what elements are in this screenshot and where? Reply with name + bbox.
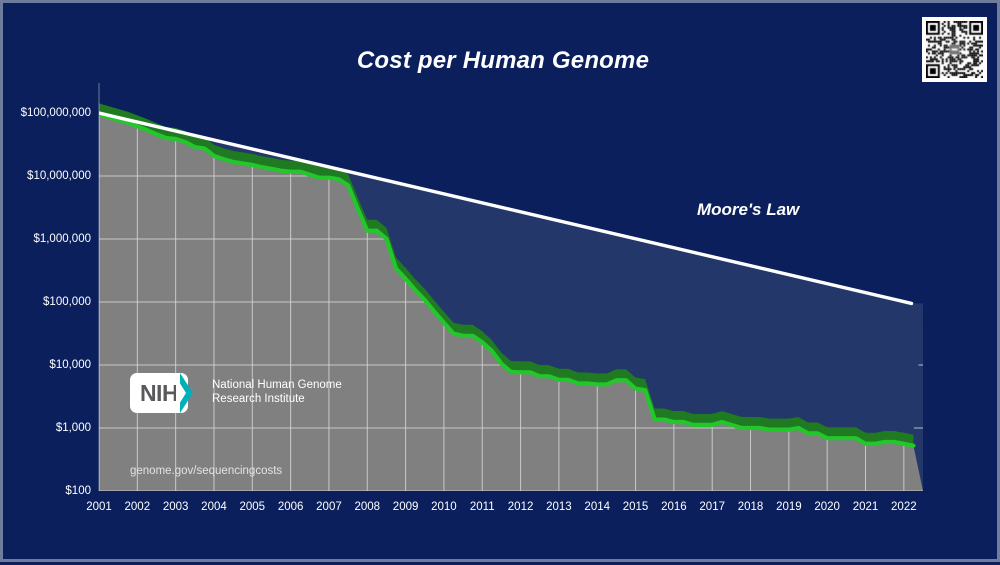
nih-logo-line2: Research Institute (212, 393, 342, 407)
chevron-notch-icon (176, 377, 186, 409)
x-axis-tick-label: 2002 (125, 501, 151, 513)
x-axis-tick-label: 2016 (661, 501, 687, 513)
y-axis-tick-label: $10,000 (49, 359, 91, 371)
x-axis-tick-label: 2011 (470, 501, 495, 513)
x-axis-tick-label: 2001 (86, 501, 112, 513)
y-axis-tick-label: $100 (65, 485, 91, 497)
y-axis-tick-label: $100,000 (43, 296, 91, 308)
source-url-label: genome.gov/sequencingcosts (130, 465, 282, 477)
y-axis-tick-label: $100,000,000 (21, 107, 91, 119)
qr-code[interactable] (922, 17, 987, 82)
x-axis-tick-label: 2006 (278, 501, 304, 513)
nih-logo-mark: NIH (130, 373, 188, 413)
x-axis-tick-label: 2009 (393, 501, 419, 513)
x-axis-tick-label: 2003 (163, 501, 189, 513)
x-axis-tick-label: 2020 (814, 501, 840, 513)
y-axis-tick-label: $1,000,000 (33, 233, 91, 245)
cost-per-genome-chart: $100,000,000$10,000,000$1,000,000$100,00… (3, 3, 1000, 565)
x-axis-tick-label: 2010 (431, 501, 457, 513)
nih-logo: NIH National Human Genome Research Insti… (130, 373, 342, 413)
page-title: Cost per Human Genome (3, 47, 1000, 75)
x-axis-tick-label: 2007 (316, 501, 342, 513)
chart-frame: $100,000,000$10,000,000$1,000,000$100,00… (0, 0, 1000, 562)
moores-law-annotation: Moore's Law (697, 200, 799, 220)
nih-logo-wordmark: National Human Genome Research Institute (212, 379, 342, 406)
x-axis-tick-label: 2022 (891, 501, 917, 513)
qr-code-image (926, 21, 983, 78)
x-axis-tick-label: 2012 (508, 501, 534, 513)
x-axis-tick-label: 2017 (699, 501, 725, 513)
nih-logo-line1: National Human Genome (212, 379, 342, 393)
x-axis-tick-label: 2015 (623, 501, 649, 513)
nih-logo-text: NIH (140, 380, 178, 407)
x-axis-tick-label: 2005 (240, 501, 266, 513)
x-axis-tick-label: 2021 (853, 501, 879, 513)
x-axis-tick-label: 2008 (354, 501, 380, 513)
x-axis-tick-label: 2018 (738, 501, 764, 513)
x-axis-tick-label: 2014 (584, 501, 610, 513)
y-axis-tick-label: $10,000,000 (27, 170, 91, 182)
x-axis-tick-label: 2004 (201, 501, 227, 513)
x-axis-tick-label: 2013 (546, 501, 572, 513)
x-axis-tick-label: 2019 (776, 501, 802, 513)
y-axis-tick-label: $1,000 (56, 422, 91, 434)
